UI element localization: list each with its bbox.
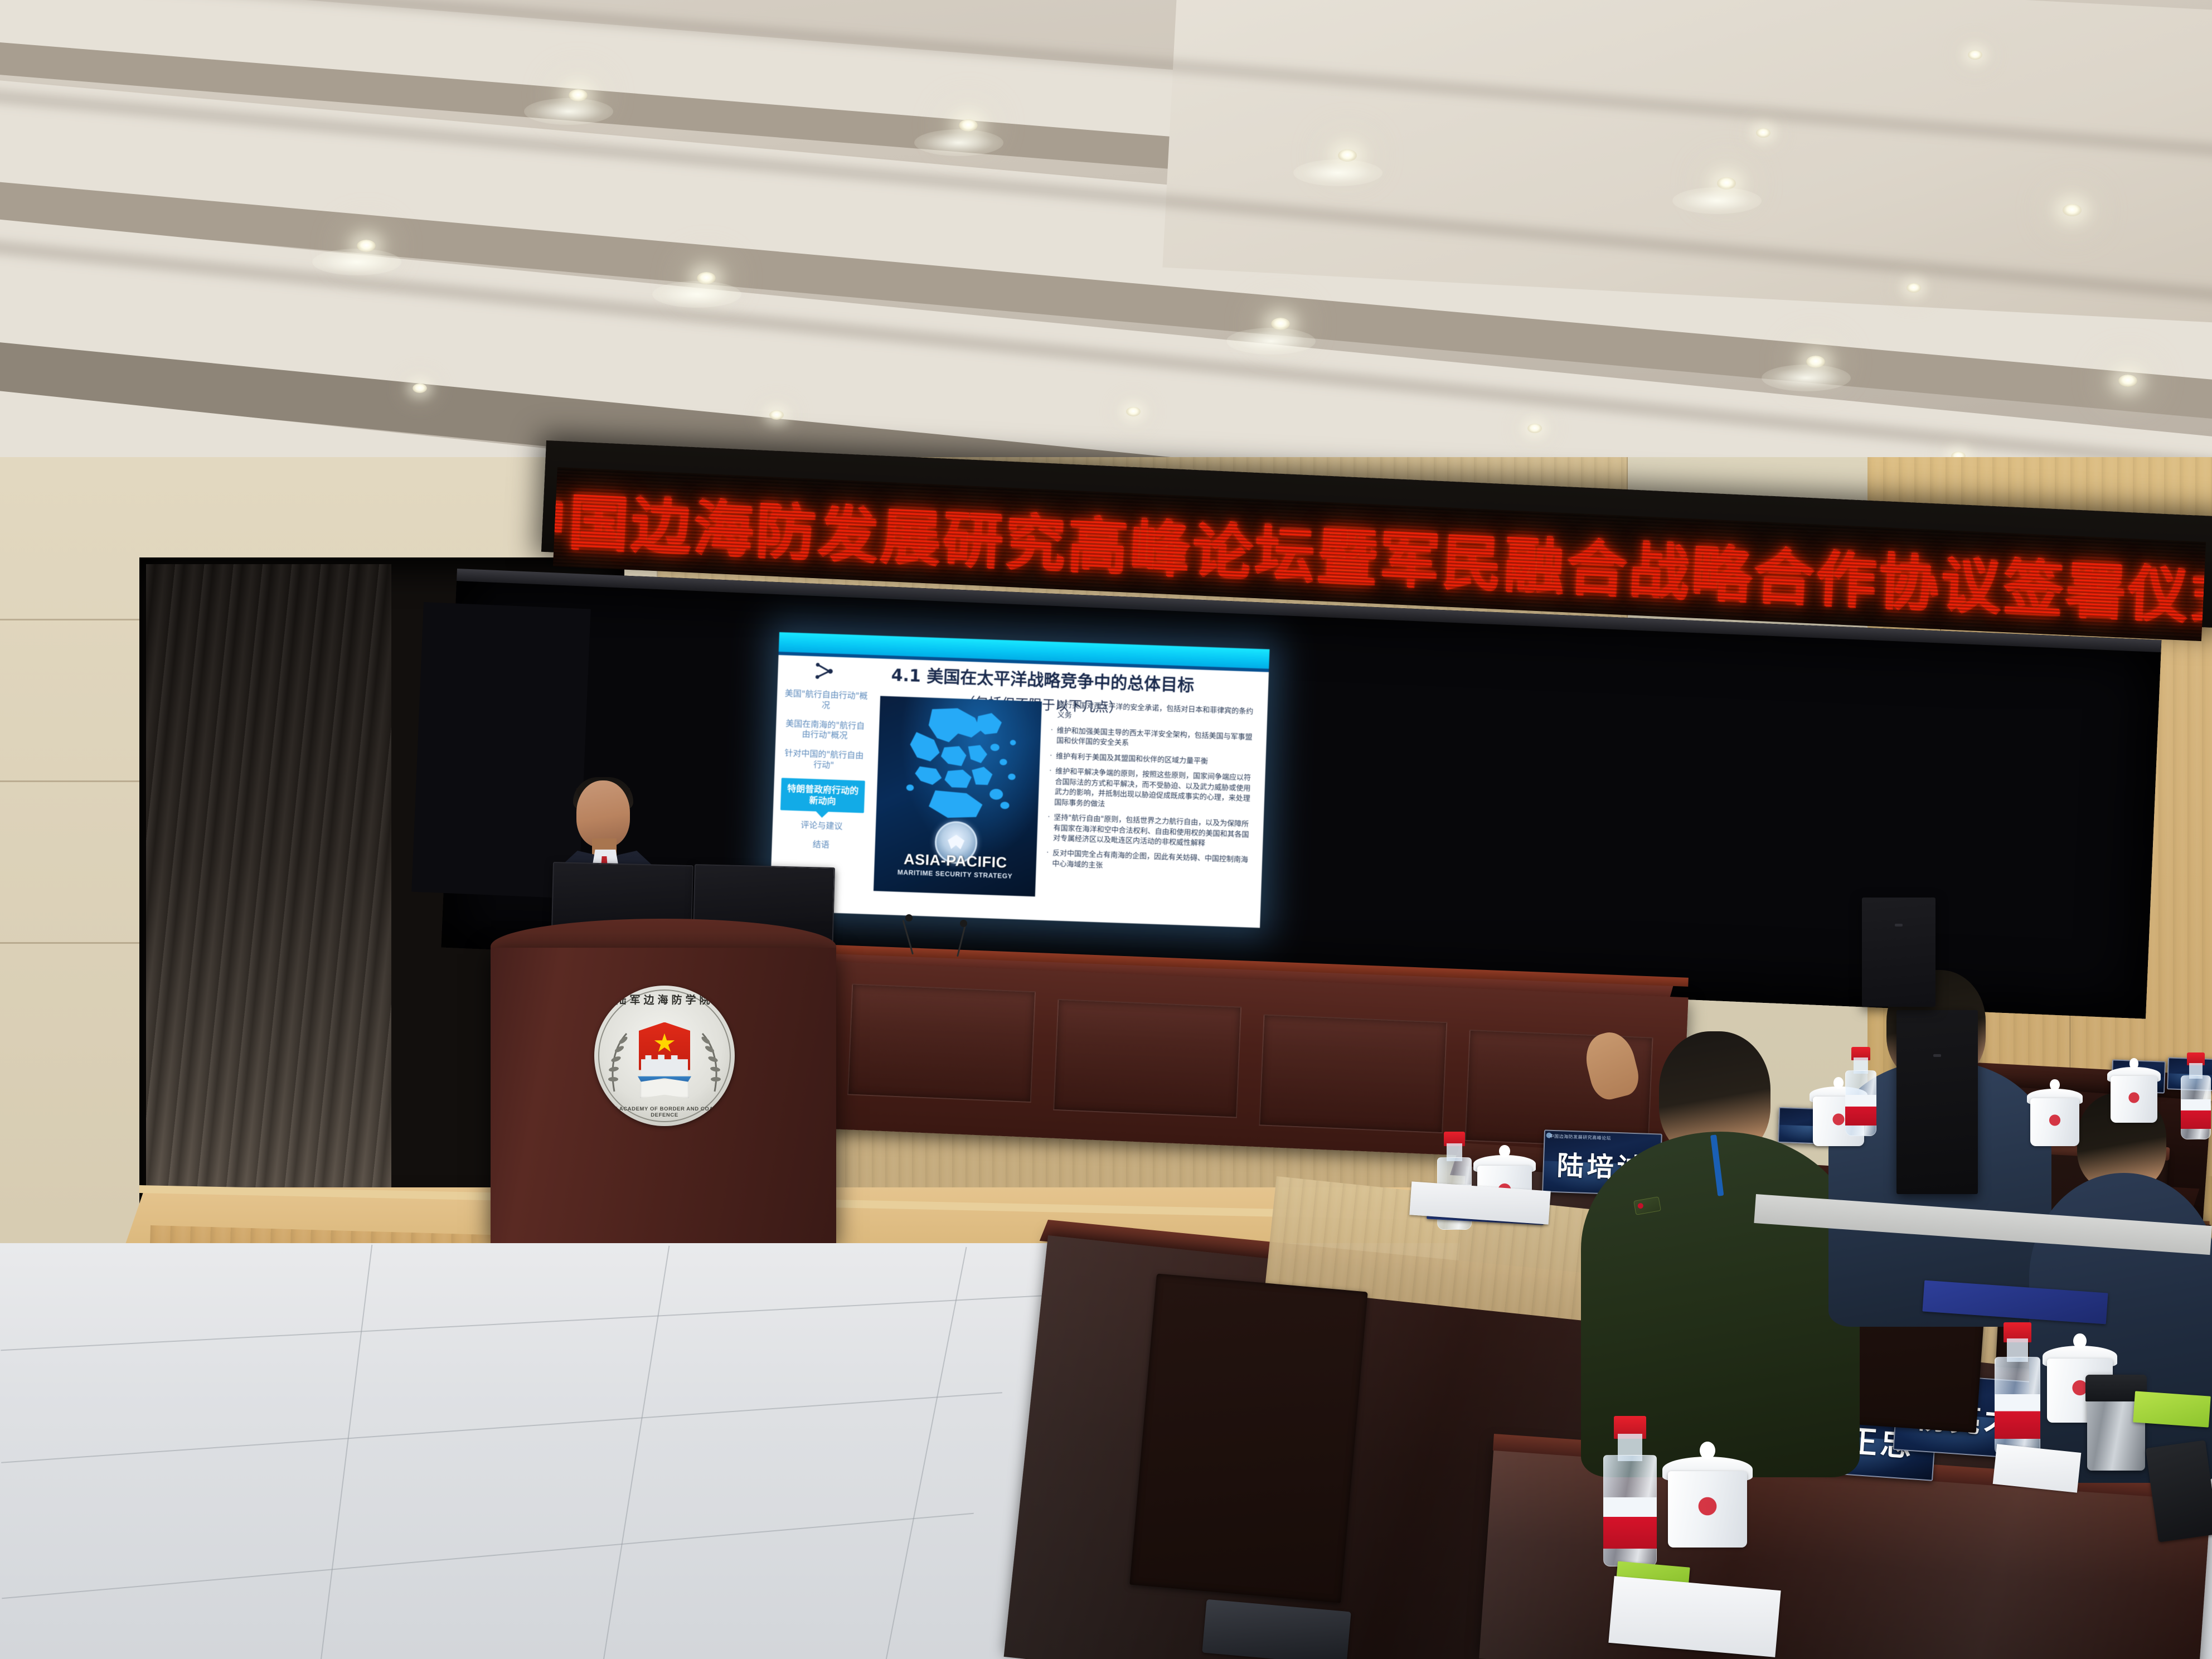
pa-speaker-box: [1896, 1010, 1978, 1194]
ceiling-downlight: [2063, 204, 2082, 216]
microphone-head-icon: [960, 920, 967, 927]
teacup-logo-icon: [1690, 1492, 1725, 1520]
ceiling-downlight: [1527, 424, 1542, 433]
asia-pacific-cover-image: ASIA-PACIFIC MARITIME SECURITY STRATEGY: [874, 696, 1042, 896]
ceiling: [0, 0, 2212, 491]
ceiling-downlight: [1756, 128, 1770, 138]
teacup-knob: [1499, 1145, 1510, 1157]
slide-nav-item-3[interactable]: 特朗普政府行动的新动向: [780, 778, 865, 813]
slide-bullet-text: 维护有利于美国及其盟国和伙伴的区域力量平衡: [1056, 751, 1208, 767]
bullet-dot-icon: ·: [1051, 700, 1054, 721]
slide-nav-item-0[interactable]: 美国"航行自由行动"概况: [784, 688, 868, 712]
slide-bullet-text: 维护和加强美国主导的西太平洋安全架构，包括美国与军事盟国和伙伴国的安全关系: [1056, 726, 1254, 753]
slide-bullet-text: 反对中国完全占有南海的企图，因此有关妨碍、中国控制南海中心海域的主张: [1052, 849, 1249, 876]
chair-back-3[interactable]: [1129, 1274, 1367, 1603]
green-folder[interactable]: [2133, 1391, 2211, 1427]
bottle-label: [1603, 1497, 1657, 1549]
bullet-dot-icon: ·: [1047, 813, 1050, 843]
slide-bullet-text: 维护和平解决争端的原则，按照这些原则，国家间争端应以符合国际法的方式和平解决，而…: [1054, 767, 1252, 815]
slide-bullet: ·维护有利于美国及其盟国和伙伴的区域力量平衡: [1050, 751, 1253, 769]
slide-bullet: ·维护和加强美国主导的西太平洋安全架构，包括美国与军事盟国和伙伴国的安全关系: [1050, 726, 1254, 754]
slide-nav-item-2[interactable]: 针对中国的"航行自由行动": [782, 748, 866, 772]
water-bottle-3[interactable]: [2181, 1052, 2211, 1139]
ceiling-downlight: [413, 384, 427, 393]
tea-cup-3[interactable]: [2030, 1079, 2079, 1146]
slide-bullet-list: ·履行美国对西太平洋的安全承诺，包括对日本和菲律宾的条约义务 ·维护和加强美国主…: [1045, 700, 1258, 919]
tea-cup-4[interactable]: [2111, 1058, 2157, 1123]
presenter-head: [576, 780, 630, 847]
bullet-dot-icon: ·: [1046, 848, 1049, 869]
slide-bullet: ·坚持"航行自由"原则，包括世界之力航行自由，以及为保障所有国家在海洋和空中合法…: [1047, 813, 1250, 851]
slide-section-nav: 美国"航行自由行动"概况 美国在南海的"航行自由行动"概况 针对中国的"航行自由…: [779, 688, 869, 851]
ceiling-downlight: [1968, 50, 1982, 60]
thermos-flask[interactable]: [2087, 1375, 2145, 1471]
emblem-wheat-right-icon: [698, 1030, 727, 1097]
pa-speaker-box-far: [1862, 898, 1935, 1007]
ceiling-downlight: [1126, 407, 1141, 416]
bullet-dot-icon: ·: [1048, 767, 1051, 808]
slide-nav-item-5[interactable]: 结语: [812, 840, 829, 851]
slide-nav-item-4[interactable]: 评论与建议: [801, 819, 843, 831]
bullet-dot-icon: ·: [1050, 751, 1052, 762]
podium: 陆军边海防学院: [491, 948, 836, 1243]
projected-slide: 4.1 美国在太平洋战略竞争中的总体目标 （包括但不限于以下几点） 美国"航行自…: [770, 632, 1270, 928]
stage-curtain: [146, 564, 391, 1216]
ceiling-downlight: [1907, 283, 1921, 293]
water-bottle-front[interactable]: [1603, 1416, 1657, 1566]
water-bottle-right-front[interactable]: [1995, 1322, 2040, 1455]
conference-hall-photo: 中国边海防发展研究高峰论坛暨军民融合战略合作协议签署仪式 4.1 美国在太平洋战…: [0, 0, 2212, 1659]
academy-emblem: 陆军边海防学院: [594, 986, 735, 1126]
microphone-head-icon: [905, 914, 913, 921]
bullet-dot-icon: ·: [1050, 726, 1053, 746]
slide-nav-item-1[interactable]: 美国在南海的"航行自由行动"概况: [783, 718, 867, 742]
ceiling-downlight: [2118, 375, 2137, 387]
emblem-chinese-text: 陆军边海防学院: [594, 992, 735, 1007]
slide-bullet: ·维护和平解决争端的原则，按照这些原则，国家间争端应以符合国际法的方式和平解决，…: [1048, 767, 1252, 814]
slide-bullet: ·反对中国完全占有南海的企图，因此有关妨碍、中国控制南海中心海域的主张: [1046, 848, 1249, 876]
ceiling-downlight: [769, 410, 784, 420]
slide-bullet-text: 坚持"航行自由"原则，包括世界之力航行自由，以及为保障所有国家在海洋和空中合法权…: [1053, 813, 1250, 851]
water-bottle-2[interactable]: [1845, 1047, 1876, 1136]
slide-node-icon: [814, 661, 835, 681]
asia-pacific-map-icon: [882, 704, 1035, 826]
emblem-wheat-left-icon: [602, 1030, 631, 1097]
tea-cup-front[interactable]: [1668, 1442, 1747, 1548]
emblem-english-text: ARMY ACADEMY OF BORDER AND COASTAL DEFEN…: [594, 1106, 735, 1118]
